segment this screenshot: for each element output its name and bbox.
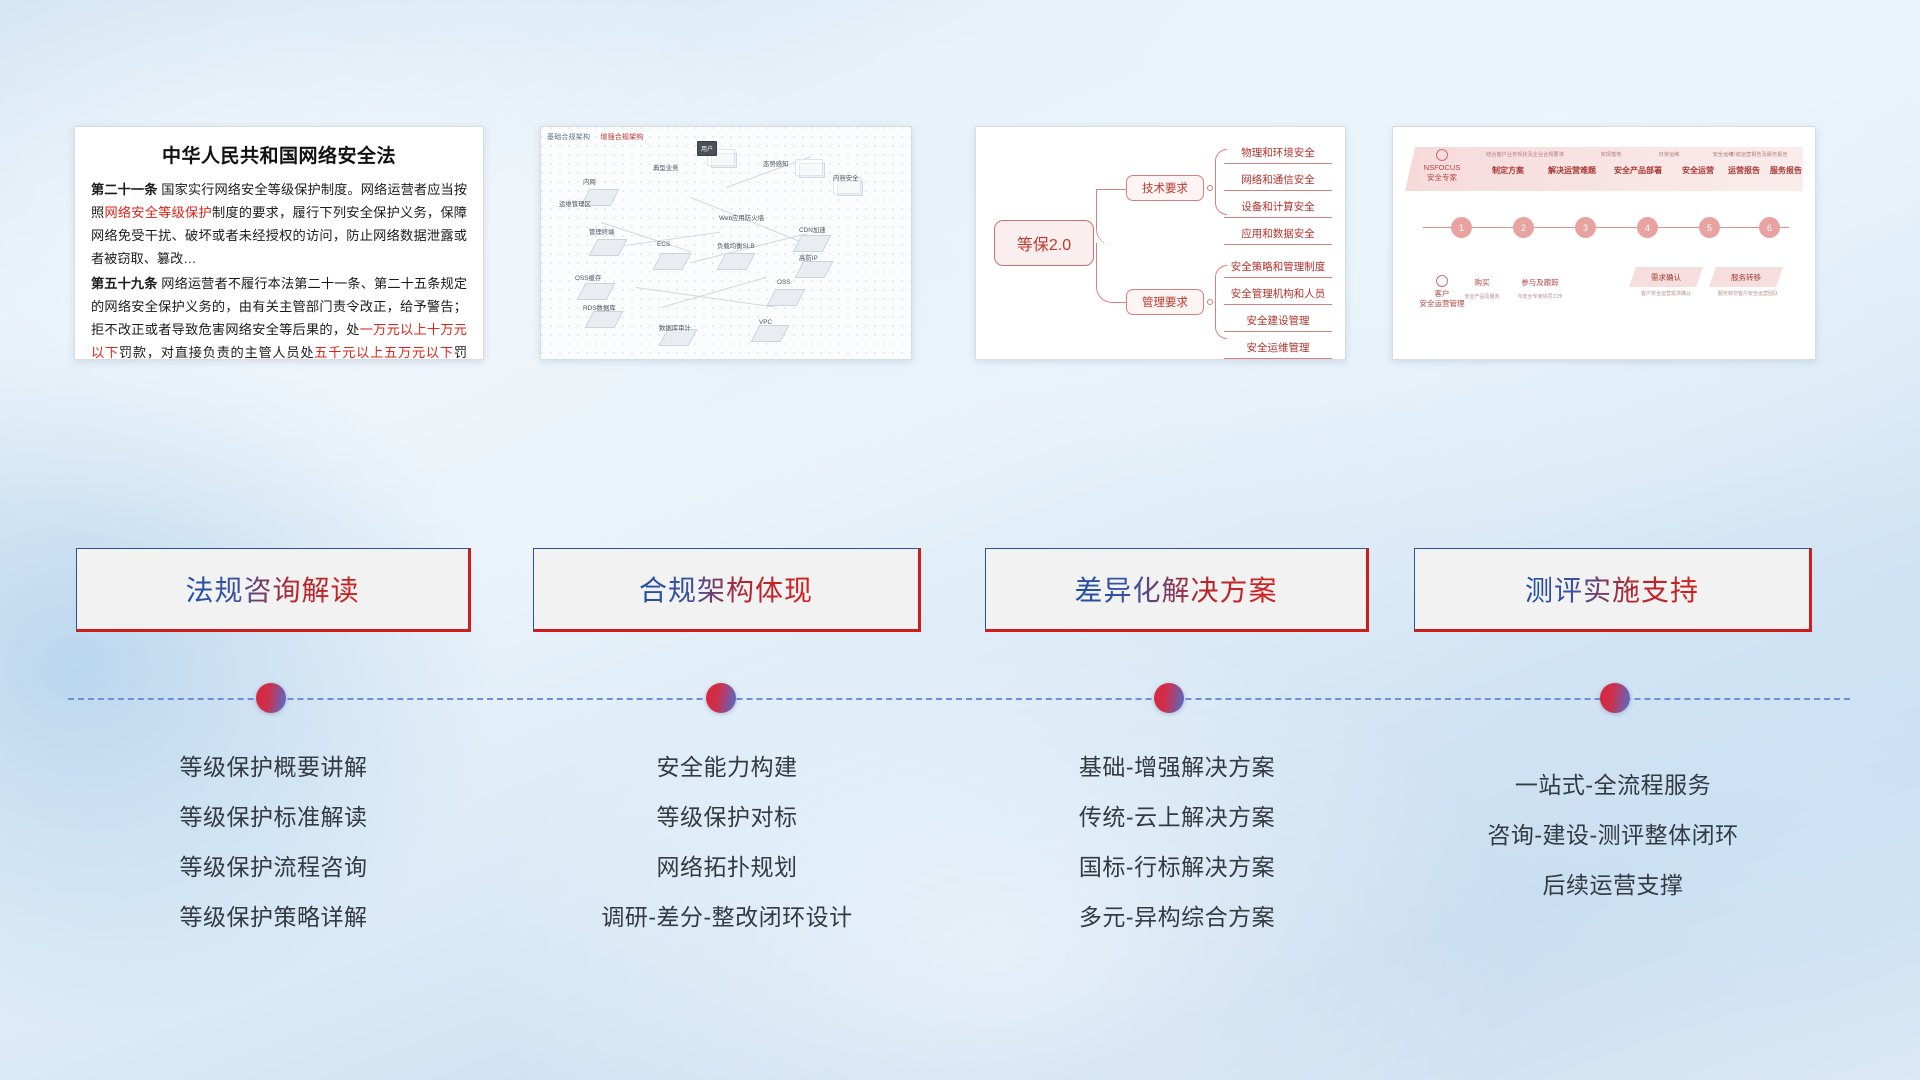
diagram-node-label: RDS数据库 [583, 303, 616, 312]
list-item: 调研-差分-整改闭环设计 [533, 892, 921, 942]
diagram-node-label: 高防IP [799, 253, 818, 262]
diagram-node-shape [766, 289, 805, 306]
list-item: 安全能力构建 [533, 742, 921, 792]
diagram-node-label: 用户 [697, 141, 717, 156]
diagram-node-shape [837, 181, 863, 196]
bottom-sublabel: 服务转交客户安全运营团队 [1703, 290, 1793, 297]
mindmap-root-node: 等保2.0 [994, 220, 1094, 266]
column-subtitle: 形成运营报告及服务报告 [1711, 151, 1807, 158]
column-header: 服务报告 [1753, 165, 1816, 176]
diagram-node-shape [750, 325, 789, 342]
diagram-node-shape [584, 311, 623, 328]
diagram-node-label: 运维管理区 [559, 199, 591, 208]
mindmap-leaf: 物理和环境安全 [1224, 145, 1332, 164]
diagram-node-label: 内容安全 [833, 173, 859, 182]
list-item: 基础-增强解决方案 [985, 742, 1369, 792]
diagram-node-label: 数据库审计 [659, 323, 691, 332]
architecture-tabs: 基础合规架构 增强合规架构 [547, 132, 652, 142]
diagram-node-shape [576, 283, 615, 300]
diagram-node-shape [794, 261, 833, 278]
mindmap-leaf: 安全策略和管理制度 [1224, 259, 1332, 278]
flow-step: 5 [1699, 217, 1720, 238]
list-item: 等级保护概要讲解 [76, 742, 471, 792]
list-item: 传统-云上解决方案 [985, 792, 1369, 842]
law-paragraph: 第二十一条 国家实行网络安全等级保护制度。网络运营者应当按照网络安全等级保护制度… [91, 178, 467, 270]
card-dengbao-mindmap: 等保2.0 技术要求 管理要求 物理和环境安全 网络和通信安全 设备和计算安全 … [975, 126, 1346, 360]
column-header: 安全产品部署 [1605, 165, 1671, 176]
mindmap: 等保2.0 技术要求 管理要求 物理和环境安全 网络和通信安全 设备和计算安全 … [976, 127, 1345, 359]
card-nsfocus-service-flow: NSFOCUS 安全专家 结合客户业务现状及企业合规要求 实现落地 日常运维 安… [1392, 126, 1816, 360]
badge-name: NSFOCUS [1415, 163, 1469, 173]
pillar-items-1: 等级保护概要讲解 等级保护标准解读 等级保护流程咨询 等级保护策略详解 [76, 742, 471, 942]
pillar-heading-box-4[interactable]: 测评实施支持 [1414, 548, 1812, 632]
list-item: 咨询-建设-测评整体闭环 [1414, 810, 1812, 860]
tab-basic-architecture[interactable]: 基础合规架构 [547, 134, 590, 141]
mindmap-leaf: 安全建设管理 [1224, 313, 1332, 332]
flow-step: 1 [1451, 217, 1472, 238]
diagram-node-shape [799, 163, 825, 178]
mindmap-leaf: 安全管理机构和人员 [1224, 286, 1332, 305]
column-header: 制定方案 [1475, 165, 1541, 176]
column-header: 解决运营难题 [1539, 165, 1605, 176]
diagram-node-label: 典型业务 [653, 163, 679, 172]
customer-role: 安全运营管理 [1415, 299, 1469, 309]
card-cybersecurity-law: 中华人民共和国网络安全法 第二十一条 国家实行网络安全等级保护制度。网络运营者应… [74, 126, 484, 360]
pillar-heading-label: 测评实施支持 [1525, 569, 1699, 609]
mindmap-branch-management: 管理要求 [1126, 289, 1204, 315]
diagram-node-shape [588, 239, 627, 256]
list-item: 等级保护标准解读 [76, 792, 471, 842]
mindmap-edge [1096, 189, 1128, 245]
pillar-heading-label: 差异化解决方案 [1074, 569, 1277, 609]
list-item: 等级保护流程咨询 [76, 842, 471, 892]
diagram-node-label: OSS缓存 [575, 273, 601, 282]
pillar-items-2: 安全能力构建 等级保护对标 网络拓扑规划 调研-差分-整改闭环设计 [533, 742, 921, 942]
person-icon [1436, 149, 1448, 161]
pillar-items-4: 一站式-全流程服务 咨询-建设-测评整体闭环 后续运营支撑 [1414, 760, 1812, 910]
diagram-node-shape [652, 253, 691, 270]
list-item: 后续运营支撑 [1414, 860, 1812, 910]
nsfocus-expert-badge: NSFOCUS 安全专家 [1415, 149, 1469, 183]
flow-step: 4 [1637, 217, 1658, 238]
diagram-connector [636, 287, 775, 307]
diagram-node-label: 态势感知 [763, 159, 789, 168]
mindmap-leaf: 网络和通信安全 [1224, 172, 1332, 191]
bottom-sublabel: 与安全专家协同工作 [1501, 293, 1579, 300]
law-article-number: 第二十一条 [91, 182, 158, 197]
pillar-items-3: 基础-增强解决方案 传统-云上解决方案 国标-行标解决方案 多元-异构综合方案 [985, 742, 1369, 942]
law-paragraph: 第五十九条 网络运营者不履行本法第二十一条、第二十五条规定的网络安全保护义务的，… [91, 272, 467, 360]
mindmap-collapse-dot[interactable] [1207, 299, 1213, 305]
diagram-node-label: OSS [777, 279, 791, 286]
pillar-heading-box-1[interactable]: 法规咨询解读 [76, 548, 471, 632]
list-item: 网络拓扑规划 [533, 842, 921, 892]
diagram-node-label: CDN加速 [799, 225, 826, 234]
architecture-diagram: 基础合规架构 增强合规架构 [541, 127, 911, 359]
diagram-node-label: 负载均衡SLB [717, 241, 755, 250]
mindmap-leaf: 设备和计算安全 [1224, 199, 1332, 218]
mindmap-branch-technical: 技术要求 [1126, 175, 1204, 201]
diagram-node-label: VPC [759, 319, 772, 326]
bottom-sublabel: 客户安全运营需求确认 [1623, 290, 1709, 297]
timeline-dashed-line [68, 698, 1850, 700]
bottom-tag: 服务转移 [1709, 267, 1783, 287]
law-article-number: 第五十九条 [91, 276, 158, 291]
timeline-marker-4[interactable] [1600, 683, 1630, 713]
law-text-1-3-highlight: 五千元以上五万元以下 [314, 345, 454, 360]
timeline-marker-3[interactable] [1154, 683, 1184, 713]
list-item: 国标-行标解决方案 [985, 842, 1369, 892]
pillar-heading-label: 法规咨询解读 [185, 569, 359, 609]
column-subtitle: 结合客户业务现状及企业合规要求 [1477, 151, 1573, 158]
mindmap-leaf: 应用和数据安全 [1224, 226, 1332, 245]
reference-cards-row: 中华人民共和国网络安全法 第二十一条 国家实行网络安全等级保护制度。网络运营者应… [0, 126, 1920, 360]
mindmap-leaf: 安全运维管理 [1224, 340, 1332, 359]
diagram-node-label: Web应用防火墙 [719, 213, 764, 222]
law-text-1-2: 罚款，对直接负责的主管人员处 [119, 345, 314, 360]
list-item: 等级保护对标 [533, 792, 921, 842]
list-item: 等级保护策略详解 [76, 892, 471, 942]
tab-enhanced-architecture[interactable]: 增强合规架构 [600, 134, 643, 141]
pillar-heading-box-3[interactable]: 差异化解决方案 [985, 548, 1369, 632]
bottom-label: 参与及跟踪 [1505, 277, 1575, 288]
mindmap-collapse-dot[interactable] [1207, 185, 1213, 191]
card-cloud-architecture: 基础合规架构 增强合规架构 [540, 126, 912, 360]
law-title: 中华人民共和国网络安全法 [75, 141, 483, 168]
diagram-node-shape [716, 253, 755, 270]
badge-role: 安全专家 [1415, 173, 1469, 183]
bottom-tag: 需求确认 [1629, 267, 1703, 287]
timeline-marker-2[interactable] [706, 683, 736, 713]
pillar-heading-box-2[interactable]: 合规架构体现 [533, 548, 921, 632]
diagram-node-label: ECS [657, 241, 670, 248]
flow-step: 6 [1759, 217, 1780, 238]
flow-step: 2 [1513, 217, 1534, 238]
service-flow-diagram: NSFOCUS 安全专家 结合客户业务现状及企业合规要求 实现落地 日常运维 安… [1393, 127, 1815, 359]
mindmap-edge [1096, 243, 1128, 303]
diagram-node-shape [792, 235, 831, 252]
law-body: 第二十一条 国家实行网络安全等级保护制度。网络运营者应当按照网络安全等级保护制度… [75, 178, 483, 360]
list-item: 一站式-全流程服务 [1414, 760, 1812, 810]
list-item: 多元-异构综合方案 [985, 892, 1369, 942]
law-text-0-1-highlight: 网络安全等级保护 [104, 205, 212, 220]
timeline-axis [1423, 227, 1789, 228]
pillar-heading-label: 合规架构体现 [639, 569, 813, 609]
diagram-node-label: 内网 [583, 177, 596, 186]
timeline-marker-1[interactable] [256, 683, 286, 713]
diagram-node-label: 管理终端 [589, 227, 615, 236]
flow-step: 3 [1575, 217, 1596, 238]
